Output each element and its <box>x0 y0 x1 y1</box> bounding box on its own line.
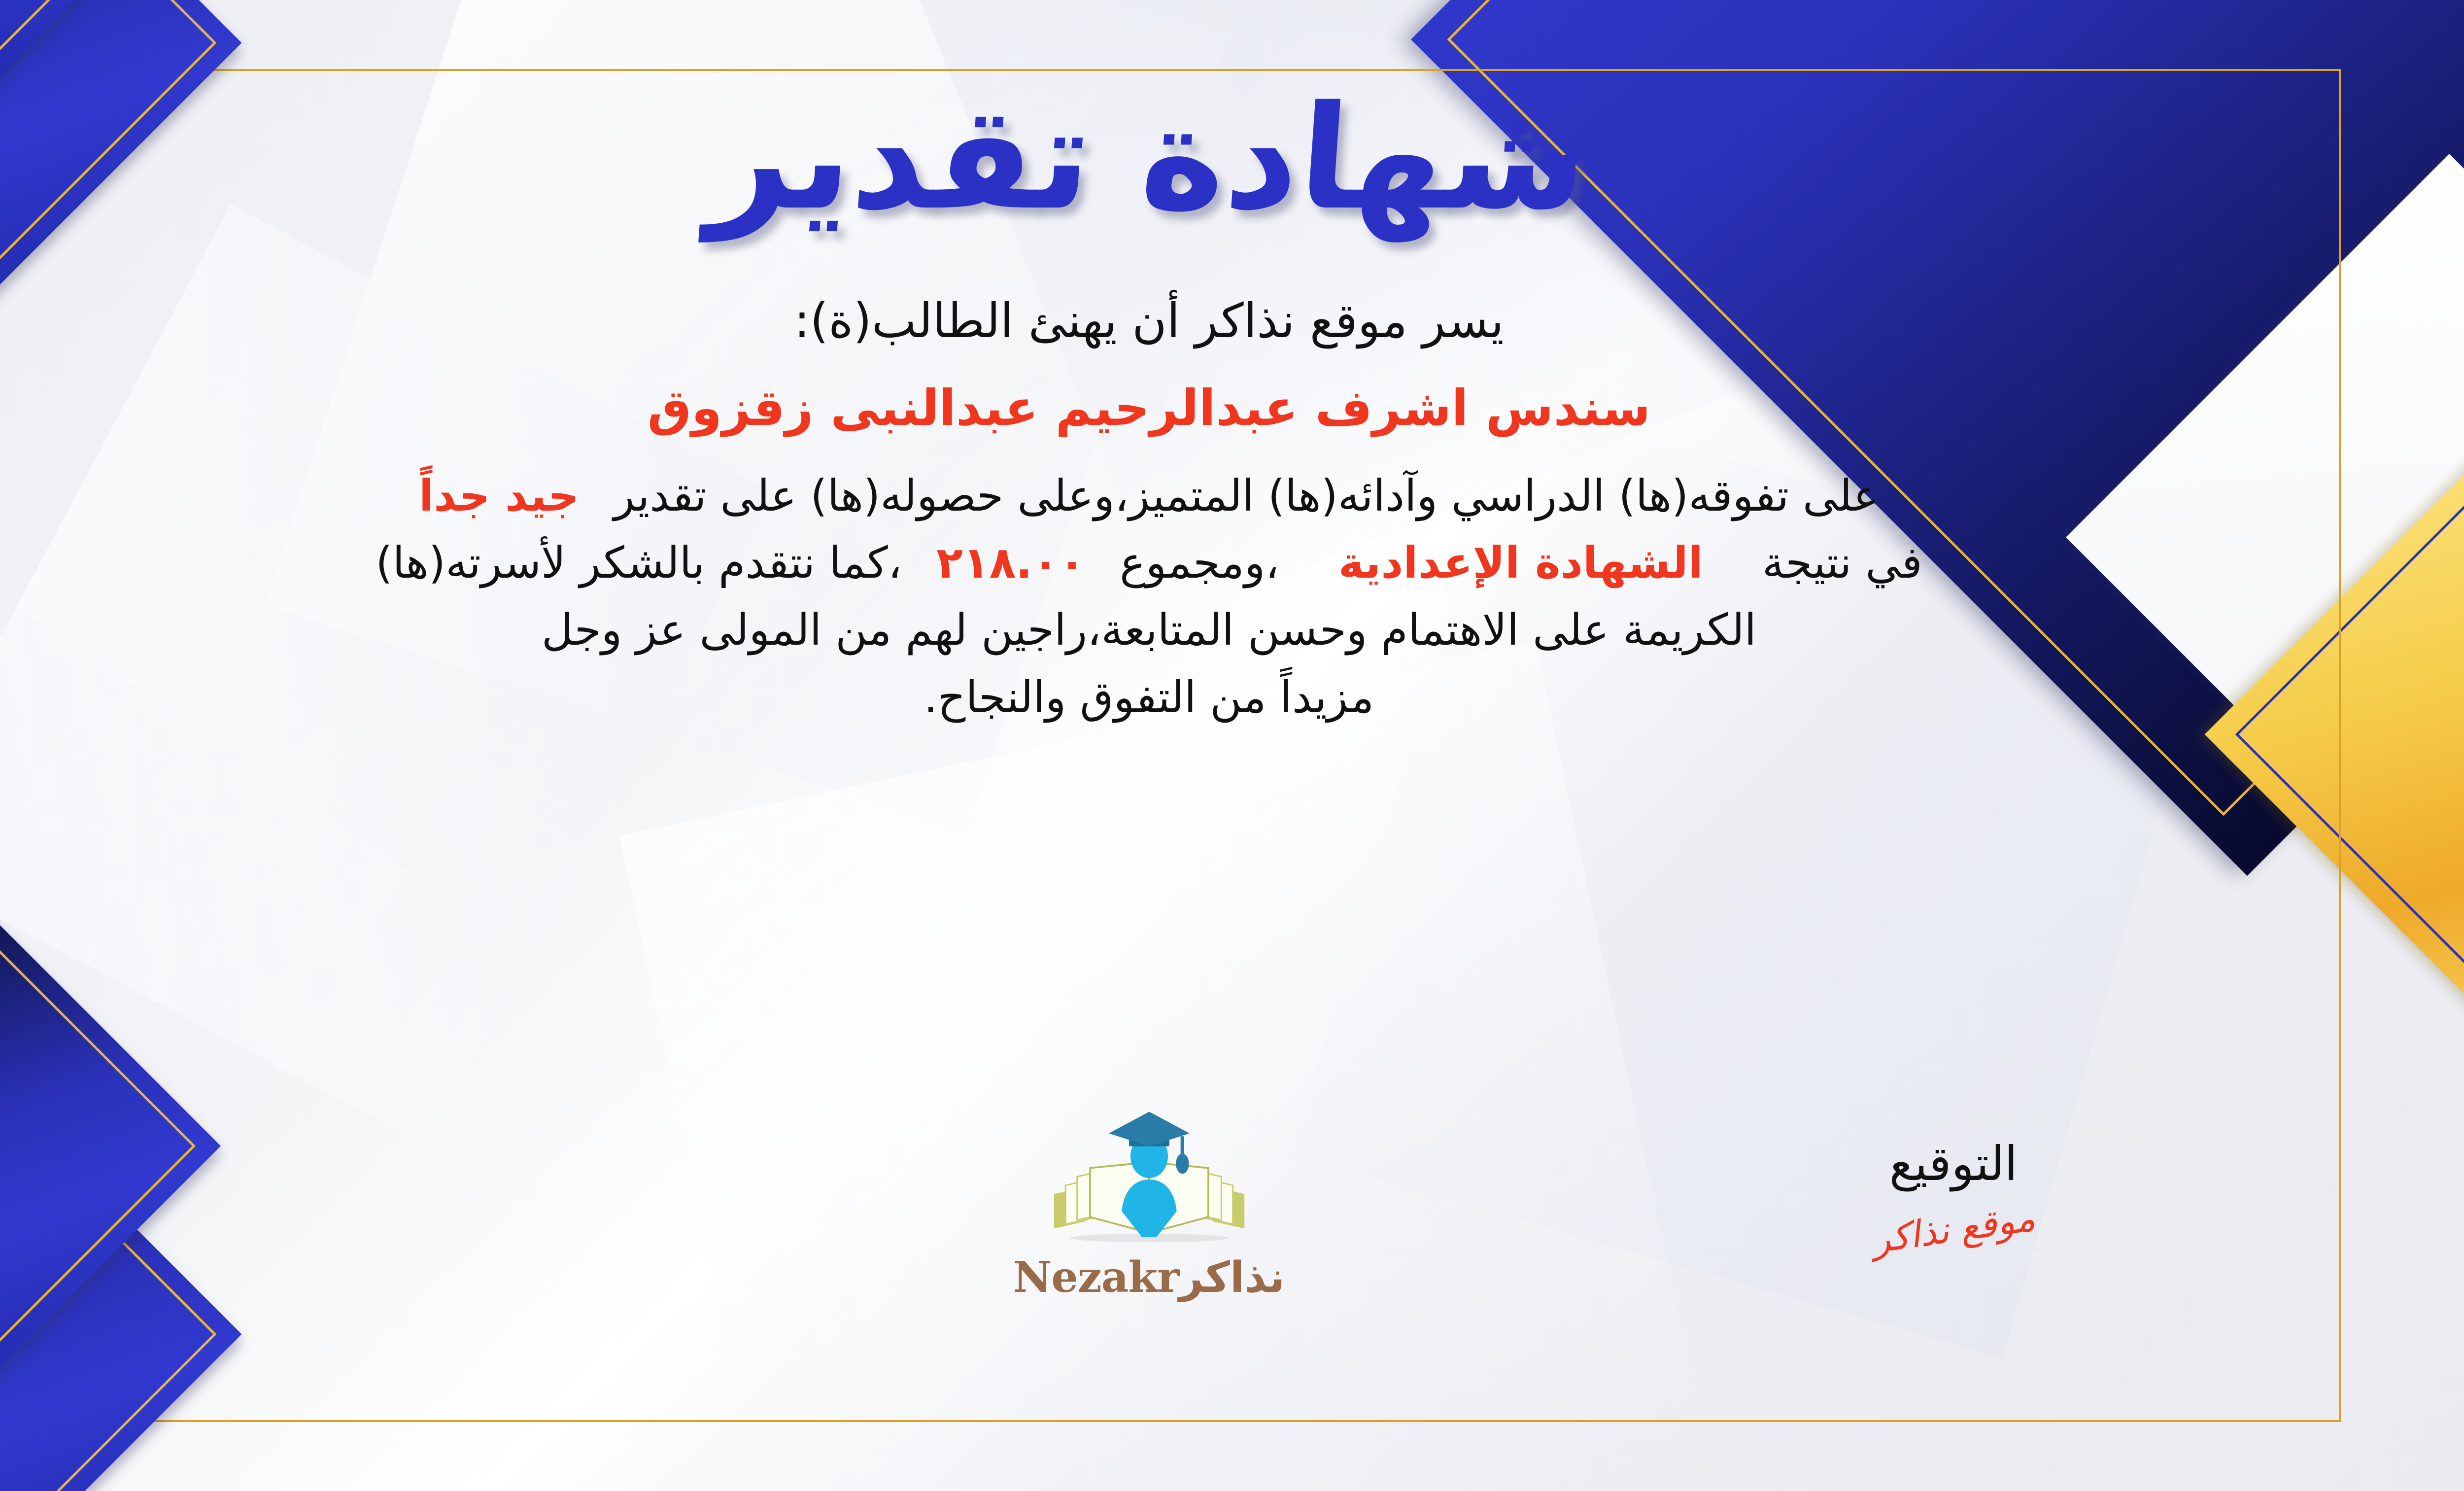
body-line-2-mid: ،ومجموع <box>1120 537 1279 588</box>
certificate-content: شهادة تقدير يسر موقع نذاكر أن يهنئ الطال… <box>0 69 2341 1422</box>
signature-script: موقع نذاكر <box>1869 1197 2037 1261</box>
signature-block: التوقيع موقع نذاكر <box>1872 1136 2035 1250</box>
body-line-4: مزيداً من التفوق والنجاح. <box>0 664 2341 731</box>
certificate-body: على تفوقه(ها) الدراسي وآدائه(ها) المتميز… <box>0 462 2341 731</box>
certificate-title: شهادة تقدير <box>705 84 1593 234</box>
logo-arabic: نذاكر <box>1179 1253 1285 1302</box>
body-line-2-suffix: ،كما نتقدم بالشكر لأسرته(ها) <box>376 537 902 588</box>
signature-label: التوقيع <box>1872 1136 2035 1191</box>
exam-name: الشهادة الإعدادية <box>1338 537 1703 588</box>
body-line-3: الكريمة على الاهتمام وحسن المتابعة،راجين… <box>0 596 2341 663</box>
congratulation-line: يسر موقع نذاكر أن يهنئ الطالب(ة): <box>794 293 1504 348</box>
graduate-book-logo-icon <box>1041 1102 1258 1249</box>
certificate-footer: التوقيع موقع نذاكر <box>0 1097 2341 1402</box>
body-line-1: على تفوقه(ها) الدراسي وآدائه(ها) المتميز… <box>0 462 2341 529</box>
student-name: سندس اشرف عبدالرحيم عبدالنبى زقزوق <box>648 379 1651 437</box>
body-line-1-text: على تفوقه(ها) الدراسي وآدائه(ها) المتميز… <box>614 470 1879 521</box>
body-line-2-prefix: في نتيجة <box>1762 537 1922 588</box>
grade-value: جيد جداً <box>419 470 579 521</box>
total-score: ٢١٨.٠٠ <box>936 537 1085 588</box>
logo-wordmark: نذاكرNezakr <box>977 1252 1322 1302</box>
site-logo: نذاكرNezakr <box>977 1102 1322 1302</box>
certificate-canvas: شهادة تقدير يسر موقع نذاكر أن يهنئ الطال… <box>0 0 2464 1491</box>
logo-latin: Nezakr <box>1013 1252 1179 1302</box>
body-line-2: في نتيجةالشهادة الإعدادية،ومجموع٢١٨.٠٠،ك… <box>0 529 2341 596</box>
